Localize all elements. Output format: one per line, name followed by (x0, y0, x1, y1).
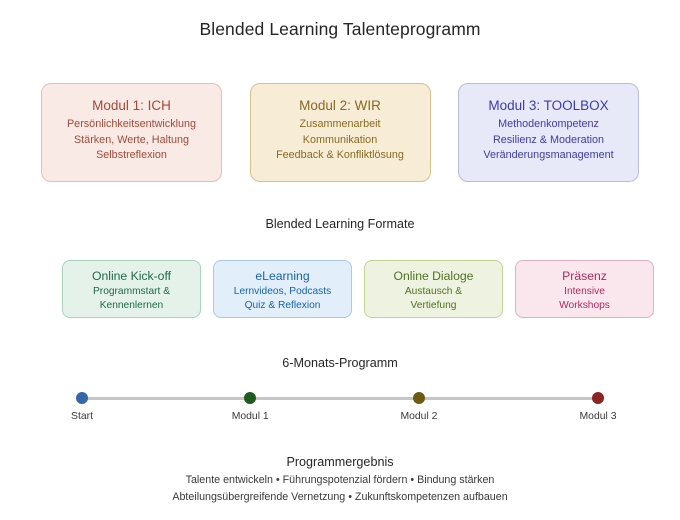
module-card-line: Persönlichkeitsentwicklung (67, 117, 196, 133)
format-card-line: Quiz & Reflexion (245, 299, 321, 313)
format-card-online-kickoff[interactable]: Online Kick-off Programmstart & Kennenle… (62, 260, 201, 318)
format-card-line: Kennenlernen (100, 299, 163, 313)
timeline-dot-icon (413, 392, 425, 404)
timeline-dot-icon (76, 392, 88, 404)
outcome-section: Programmergebnis Talente entwickeln • Fü… (0, 453, 680, 506)
module-row: Modul 1: ICH Persönlichkeitsentwicklung … (41, 83, 639, 182)
module-card-title: Modul 1: ICH (92, 97, 171, 114)
format-row: Online Kick-off Programmstart & Kennenle… (62, 260, 654, 318)
format-card-line: Austausch & (405, 285, 462, 299)
format-card-line: Vertiefung (411, 299, 457, 313)
timeline-node-label: Modul 2 (359, 411, 479, 422)
module-card-wir[interactable]: Modul 2: WIR Zusammenarbeit Kommunikatio… (250, 83, 431, 182)
timeline-dot-icon (592, 392, 604, 404)
module-card-title: Modul 2: WIR (299, 97, 381, 114)
outcome-line: Abteilungsübergreifende Vernetzung • Zuk… (0, 489, 680, 506)
module-card-line: Veränderungsmanagement (483, 148, 613, 164)
timeline-track (82, 397, 598, 400)
program-timeline: Start Modul 1 Modul 2 Modul 3 (0, 386, 680, 426)
timeline-heading: 6-Monats-Programm (0, 356, 680, 370)
module-card-line: Feedback & Konfliktlösung (276, 148, 404, 164)
format-card-online-dialoge[interactable]: Online Dialoge Austausch & Vertiefung (364, 260, 503, 318)
module-card-title: Modul 3: TOOLBOX (488, 97, 608, 114)
module-card-line: Stärken, Werte, Haltung (74, 133, 189, 149)
format-card-title: Präsenz (562, 268, 607, 284)
timeline-node-label: Start (22, 411, 142, 422)
format-card-title: Online Kick-off (92, 268, 171, 284)
formats-heading: Blended Learning Formate (0, 217, 680, 231)
format-card-line: Programmstart & (93, 285, 170, 299)
module-card-line: Resilienz & Moderation (493, 133, 604, 149)
format-card-title: eLearning (255, 268, 309, 284)
format-card-elearning[interactable]: eLearning Lernvideos, Podcasts Quiz & Re… (213, 260, 352, 318)
module-card-line: Kommunikation (303, 133, 377, 149)
timeline-node-label: Modul 3 (538, 411, 658, 422)
timeline-node-label: Modul 1 (190, 411, 310, 422)
module-card-line: Selbstreflexion (96, 148, 167, 164)
module-card-line: Zusammenarbeit (299, 117, 380, 133)
page-title: Blended Learning Talenteprogramm (0, 19, 680, 40)
outcome-title: Programmergebnis (0, 453, 680, 472)
format-card-line: Workshops (559, 299, 610, 313)
timeline-dot-icon (244, 392, 256, 404)
format-card-praesenz[interactable]: Präsenz Intensive Workshops (515, 260, 654, 318)
format-card-line: Intensive (564, 285, 605, 299)
format-card-title: Online Dialoge (394, 268, 474, 284)
outcome-line: Talente entwickeln • Führungspotenzial f… (0, 472, 680, 489)
module-card-ich[interactable]: Modul 1: ICH Persönlichkeitsentwicklung … (41, 83, 222, 182)
module-card-line: Methodenkompetenz (498, 117, 599, 133)
infographic-canvas: Blended Learning Talenteprogramm Modul 1… (0, 0, 680, 520)
module-card-toolbox[interactable]: Modul 3: TOOLBOX Methodenkompetenz Resil… (458, 83, 639, 182)
format-card-line: Lernvideos, Podcasts (234, 285, 331, 299)
